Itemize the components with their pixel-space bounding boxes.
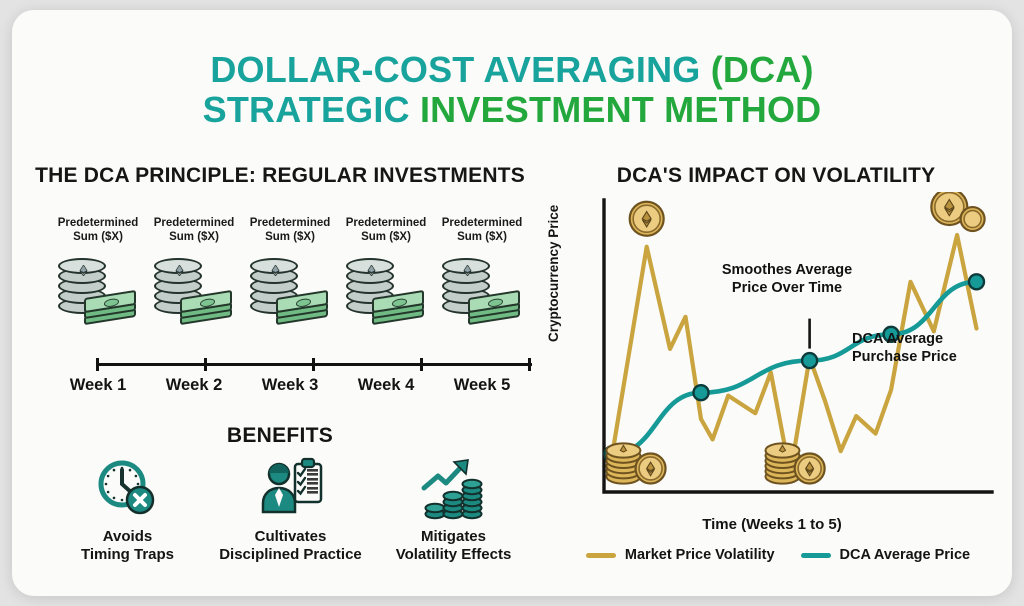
bill-seal: [296, 298, 311, 308]
benefit-label: Avoids Timing Traps: [46, 528, 209, 564]
week-label-3: Week 3: [242, 376, 338, 395]
legend-item-2: DCA Average Price: [801, 547, 971, 563]
ethereum-icon: [270, 263, 281, 274]
coin-disc: [442, 258, 490, 274]
dca-point-5: [969, 274, 984, 289]
coin-stack-cash-icon: [242, 254, 338, 338]
infographic-card: DOLLAR-COST AVERAGING (DCA) STRATEGIC IN…: [12, 10, 1012, 596]
cash-bundle-icon: [180, 294, 234, 324]
legend-item-1: Market Price Volatility: [586, 547, 775, 563]
ethereum-icon: [78, 263, 89, 274]
ethereum-icon: [174, 263, 185, 274]
timeline-tick-1: [96, 358, 99, 371]
cash-bundle-icon: [84, 294, 138, 324]
benefit-label: Cultivates Disciplined Practice: [209, 528, 372, 564]
week-column-5: Predetermined Sum ($X): [434, 216, 530, 338]
benefit-label: Mitigates Volatility Effects: [372, 528, 535, 564]
timeline-tick-4: [420, 358, 423, 371]
dca-point-3: [802, 353, 817, 368]
timeline-tick-2: [204, 358, 207, 371]
benefits-row: Avoids Timing TrapsCultivates Discipline…: [46, 452, 536, 572]
bill-seal: [392, 298, 407, 308]
dca-point-2: [694, 385, 709, 400]
timeline-tick-5: [528, 358, 531, 371]
predetermined-sum-label: Predetermined Sum ($X): [50, 216, 146, 244]
week-column-3: Predetermined Sum ($X): [242, 216, 338, 338]
benefit-item-1: Avoids Timing Traps: [46, 452, 209, 564]
benefits-heading: BENEFITS: [12, 424, 548, 448]
legend-label: Market Price Volatility: [625, 547, 775, 563]
annotation-dca-average: DCA Average Purchase Price: [852, 330, 992, 366]
bill-seal: [104, 298, 119, 308]
chart-y-axis-label: Cryptocurrency Price: [546, 205, 561, 342]
ethereum-icon: [366, 263, 377, 274]
volatility-chart: Cryptocurrency Price Time (Weeks 1 to 5)…: [552, 192, 1004, 552]
coin-disc: [154, 258, 202, 274]
left-section-heading: THE DCA PRINCIPLE: REGULAR INVESTMENTS: [12, 164, 548, 188]
growth-arrow-coins-icon: [372, 452, 535, 524]
legend-swatch: [586, 553, 616, 558]
title-line-1: DOLLAR-COST AVERAGING (DCA): [12, 50, 1012, 90]
legend-label: DCA Average Price: [840, 547, 971, 563]
coin-disc: [58, 258, 106, 274]
coin-disc: [250, 258, 298, 274]
cash-bundle-icon: [468, 294, 522, 324]
right-section-heading: DCA'S IMPACT ON VOLATILITY: [552, 164, 1000, 188]
title-line-2: STRATEGIC INVESTMENT METHOD: [12, 90, 1012, 130]
coin-disc: [346, 258, 394, 274]
title-part-dca: (DCA): [711, 49, 814, 90]
cash-bundle-icon: [276, 294, 330, 324]
title-part-investment-method: INVESTMENT METHOD: [420, 89, 821, 130]
annotation-smoothes: Smoothes Average Price Over Time: [697, 261, 877, 297]
timeline-tick-3: [312, 358, 315, 371]
page-title: DOLLAR-COST AVERAGING (DCA) STRATEGIC IN…: [12, 50, 1012, 130]
predetermined-sum-label: Predetermined Sum ($X): [242, 216, 338, 244]
title-part-dollar-cost: DOLLAR-COST AVERAGING: [210, 49, 710, 90]
coin-stack-cash-icon: [146, 254, 242, 338]
week-column-1: Predetermined Sum ($X): [50, 216, 146, 338]
week-column-4: Predetermined Sum ($X): [338, 216, 434, 338]
benefit-item-2: Cultivates Disciplined Practice: [209, 452, 372, 564]
bill-seal: [200, 298, 215, 308]
legend-swatch: [801, 553, 831, 558]
chart-legend: Market Price VolatilityDCA Average Price: [552, 542, 1004, 568]
title-part-strategic: STRATEGIC: [203, 89, 420, 130]
coin-stack-cash-icon: [50, 254, 146, 338]
timeline-axis: [96, 358, 532, 370]
chart-x-axis-label: Time (Weeks 1 to 5): [552, 516, 992, 533]
week-label-5: Week 5: [434, 376, 530, 395]
week-label-2: Week 2: [146, 376, 242, 395]
benefit-item-3: Mitigates Volatility Effects: [372, 452, 535, 564]
clock-with-x-icon: [46, 452, 209, 524]
infographic-stage: DOLLAR-COST AVERAGING (DCA) STRATEGIC IN…: [0, 0, 1024, 606]
bill-seal: [488, 298, 503, 308]
coin-stack-cash-icon: [434, 254, 530, 338]
predetermined-sum-label: Predetermined Sum ($X): [146, 216, 242, 244]
week-label-1: Week 1: [50, 376, 146, 395]
predetermined-sum-label: Predetermined Sum ($X): [338, 216, 434, 244]
week-label-4: Week 4: [338, 376, 434, 395]
week-column-2: Predetermined Sum ($X): [146, 216, 242, 338]
cash-bundle-icon: [372, 294, 426, 324]
ethereum-icon: [462, 263, 473, 274]
person-checklist-icon: [209, 452, 372, 524]
predetermined-sum-label: Predetermined Sum ($X): [434, 216, 530, 244]
weekly-investment-row: Predetermined Sum ($X)Predetermined Sum …: [50, 216, 530, 346]
week-label-row: Week 1Week 2Week 3Week 4Week 5: [50, 376, 530, 398]
coin-stack-cash-icon: [338, 254, 434, 338]
